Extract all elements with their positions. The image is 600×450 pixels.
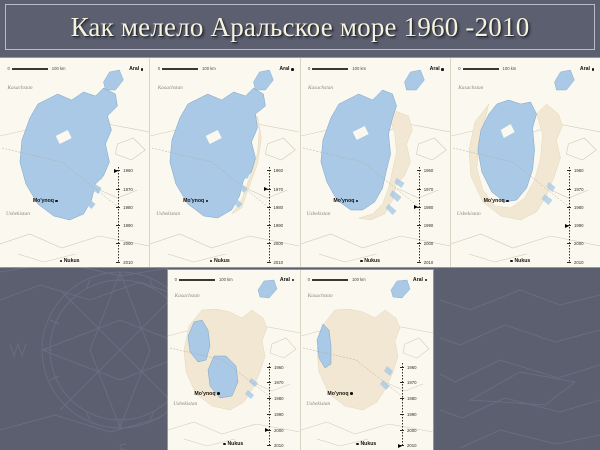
city-label-aral: Aral [280,277,294,283]
timeline-year: 2010 [123,260,133,265]
timeline-year: 2000 [274,241,284,246]
timeline-year: 1990 [274,412,284,417]
scale-bar: 0 100 km [7,66,65,71]
city-label-nukus: Nukus [356,441,376,447]
map-row-top: 0 100 km Aral Kasachstan Usbekistan Mo'y… [0,58,600,267]
city-dot [441,68,444,71]
country-label-kasachstan: Kasachstan [158,85,183,91]
scale-bar: 0 100 km [175,277,233,282]
city-dot [292,279,295,282]
country-label-usbekistan: Usbekistan [173,401,197,407]
city-dot [592,68,595,71]
city-label-nukus: Nukus [510,258,530,264]
scale-bar: 0 100 km [308,277,366,282]
city-label-moynoq: Mo'ynoq [333,198,358,204]
timeline-year: 2010 [407,443,417,448]
scale-bar-line [463,68,499,70]
country-label-kasachstan: Kasachstan [308,85,333,91]
timeline-marker [398,444,402,448]
timeline-year: 2000 [574,241,584,246]
country-label-usbekistan: Usbekistan [457,211,481,217]
timeline-year: 1990 [407,412,417,417]
country-label-kasachstan: Kasachstan [308,293,333,299]
timeline-axis [269,167,270,263]
map-panel-1990[interactable]: 0 100 km Aral Kasachstan Usbekistan Mo'y… [451,58,600,267]
city-dot [360,260,363,263]
city-label-moynoq: Mo'ynoq [327,391,352,397]
scale-bar-line [312,279,348,281]
city-label-aral: Aral [580,66,594,72]
year-timeline-2010[interactable]: 1960 1970 1980 1990 2000 2010 [395,363,429,446]
city-label-nukus: Nukus [223,441,243,447]
city-dot [506,200,509,203]
scale-bar-line [12,68,48,70]
timeline-year: 1990 [274,223,284,228]
timeline-axis [569,167,570,263]
year-timeline-1960[interactable]: 1960 1970 1980 1990 2000 2010 [111,167,145,263]
city-label-nukus: Nukus [210,258,230,264]
slide-title-frame: Как мелело Аральское море 1960 -2010 [5,4,595,50]
timeline-year: 1960 [274,365,284,370]
timeline-year: 1960 [407,365,417,370]
timeline-axis [118,167,119,263]
country-label-usbekistan: Usbekistan [6,211,30,217]
city-label-aral: Aral [279,66,293,72]
city-dot [350,392,353,395]
year-timeline-1990[interactable]: 1960 1970 1980 1990 2000 2010 [562,167,596,263]
city-label-aral: Aral [430,66,444,72]
map-panel-1970[interactable]: 0 100 km Aral Kasachstan Usbekistan Mo'y… [150,58,300,267]
timeline-marker [414,205,418,209]
timeline-marker [565,224,569,228]
year-timeline-1980[interactable]: 1960 1970 1980 1990 2000 2010 [412,167,446,263]
map-panel-2000[interactable]: 0 100 km Aral Kasachstan Usbekistan Mo'y… [168,270,301,450]
city-label-moynoq: Mo'ynoq [484,198,509,204]
scale-bar: 0 100 km [458,66,516,71]
timeline-year: 2000 [407,428,417,433]
timeline-year: 1970 [574,187,584,192]
city-label-moynoq: Mo'ynoq [194,391,219,397]
timeline-year: 1980 [274,205,284,210]
timeline-year: 1970 [274,380,284,385]
page-title: Как мелело Аральское море 1960 -2010 [71,12,530,43]
timeline-year: 1960 [424,168,434,173]
timeline-year: 1970 [407,380,417,385]
timeline-year: 1990 [123,223,133,228]
timeline-year: 1960 [574,168,584,173]
city-label-moynoq: Mo'ynoq [183,198,208,204]
city-dot [141,68,144,71]
scale-bar-line [179,279,215,281]
timeline-year: 1990 [574,223,584,228]
scale-bar-line [312,68,348,70]
timeline-year: 2000 [424,241,434,246]
year-timeline-1970[interactable]: 1960 1970 1980 1990 2000 2010 [262,167,296,263]
city-label-aral: Aral [413,277,427,283]
timeline-year: 1960 [123,168,133,173]
city-label-nukus: Nukus [360,258,380,264]
country-label-usbekistan: Usbekistan [156,211,180,217]
scale-bar: 0 100 km [308,66,366,71]
timeline-year: 1970 [274,187,284,192]
city-dot [291,68,294,71]
city-dot [356,200,359,203]
timeline-marker [264,187,268,191]
city-dot [206,200,209,203]
city-dot [60,260,63,263]
city-label-aral: Aral [129,66,143,72]
city-dot [217,392,220,395]
city-dot [510,260,513,263]
timeline-year: 1980 [574,205,584,210]
map-panel-2010[interactable]: 0 100 km Aral Kasachstan Usbekistan Mo'y… [301,270,433,450]
map-row-bottom: 0 100 km Aral Kasachstan Usbekistan Mo'y… [168,270,433,450]
map-panel-1980[interactable]: 0 100 km Aral Kasachstan Usbekistan Mo'y… [301,58,451,267]
city-dot [210,260,213,263]
timeline-year: 1980 [424,205,434,210]
timeline-year: 1980 [274,396,284,401]
map-panel-1960[interactable]: 0 100 km Aral Kasachstan Usbekistan Mo'y… [0,58,150,267]
timeline-year: 1980 [407,396,417,401]
city-label-nukus: Nukus [60,258,80,264]
timeline-year: 2000 [123,241,133,246]
city-dot [55,200,58,203]
timeline-year: 2010 [274,260,284,265]
timeline-year: 1970 [424,187,434,192]
country-label-kasachstan: Kasachstan [175,293,200,299]
year-timeline-2000[interactable]: 1960 1970 1980 1990 2000 2010 [262,363,296,446]
timeline-year: 1980 [123,205,133,210]
country-label-usbekistan: Usbekistan [306,211,330,217]
city-dot [356,443,359,446]
timeline-year: 2010 [574,260,584,265]
timeline-year: 1990 [424,223,434,228]
city-dot [425,279,428,282]
timeline-axis [419,167,420,263]
city-dot [223,443,226,446]
country-label-kasachstan: Kasachstan [7,85,32,91]
scale-bar-line [162,68,198,70]
timeline-year: 2010 [274,443,284,448]
timeline-year: 2000 [274,428,284,433]
scale-bar: 0 100 km [158,66,216,71]
country-label-usbekistan: Usbekistan [306,401,330,407]
timeline-marker [265,428,269,432]
timeline-marker [114,169,118,173]
country-label-kasachstan: Kasachstan [458,85,483,91]
timeline-year: 1970 [123,187,133,192]
city-label-moynoq: Mo'ynoq [33,198,58,204]
timeline-year: 1960 [274,168,284,173]
timeline-year: 2010 [424,260,434,265]
